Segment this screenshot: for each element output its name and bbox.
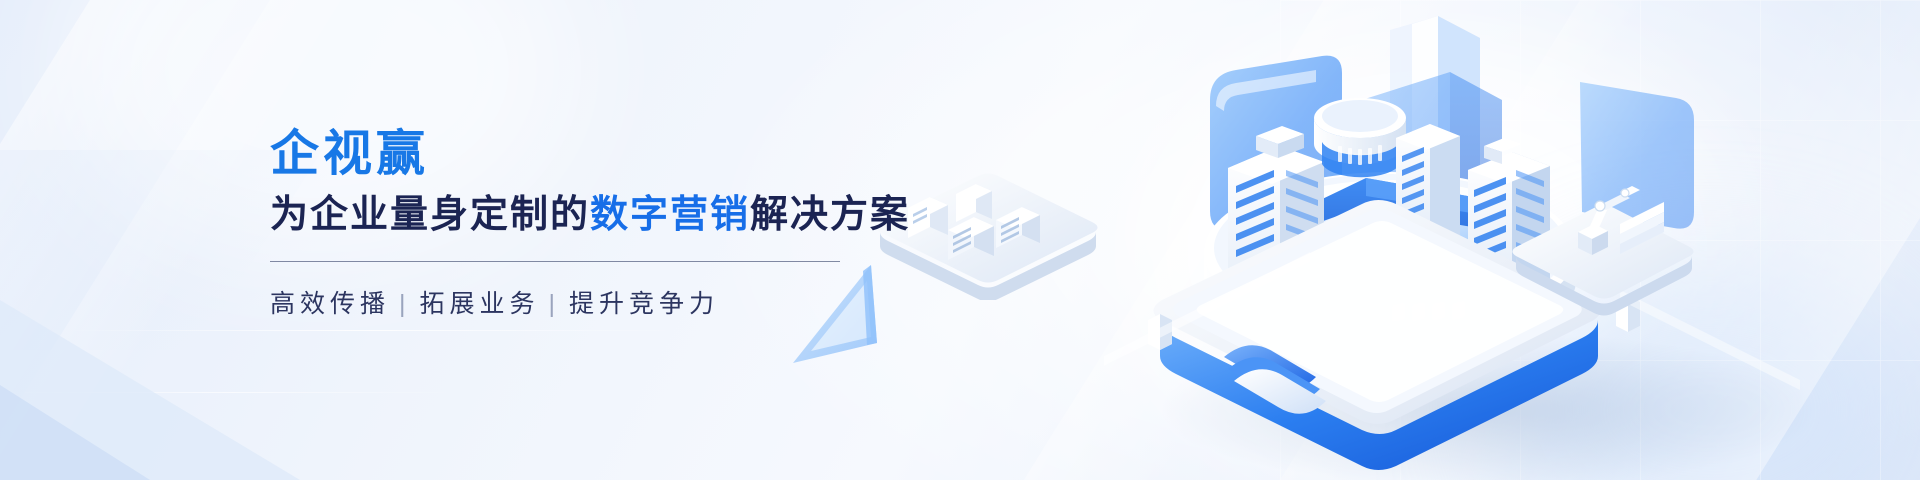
bg-diagonal-stripe-1 — [0, 0, 295, 480]
hero-banner: 企视赢 为企业量身定制的数字营销解决方案 高效传播|拓展业务|提升竞争力 — [0, 0, 1920, 480]
headline-accent: 数字营销 — [590, 194, 750, 236]
hero-text-block: 企视赢 为企业量身定制的数字营销解决方案 高效传播|拓展业务|提升竞争力 — [270, 126, 910, 320]
bg-corner-triangle — [0, 300, 300, 480]
headline-after: 解决方案 — [750, 194, 910, 236]
brand-title: 企视赢 — [270, 126, 910, 184]
tagline: 高效传播|拓展业务|提升竞争力 — [270, 284, 910, 320]
bg-corner-triangle-inner — [0, 385, 150, 480]
tagline-item-2: 拓展业务 — [420, 290, 540, 318]
blue-sheets-group — [1210, 305, 1370, 415]
bg-highlight-line-2 — [0, 392, 460, 393]
robot-arm-tray-group — [1490, 140, 1710, 320]
bg-highlight-line-1 — [60, 330, 680, 331]
divider — [270, 261, 840, 262]
tagline-item-3: 提升竞争力 — [569, 290, 719, 318]
tagline-item-1: 高效传播 — [270, 290, 390, 318]
cylinder-tower — [1314, 98, 1406, 177]
headline: 为企业量身定制的数字营销解决方案 — [270, 191, 910, 240]
tagline-separator-1: | — [390, 290, 420, 318]
tagline-separator-2: | — [540, 290, 570, 318]
headline-before: 为企业量身定制的 — [270, 194, 590, 236]
